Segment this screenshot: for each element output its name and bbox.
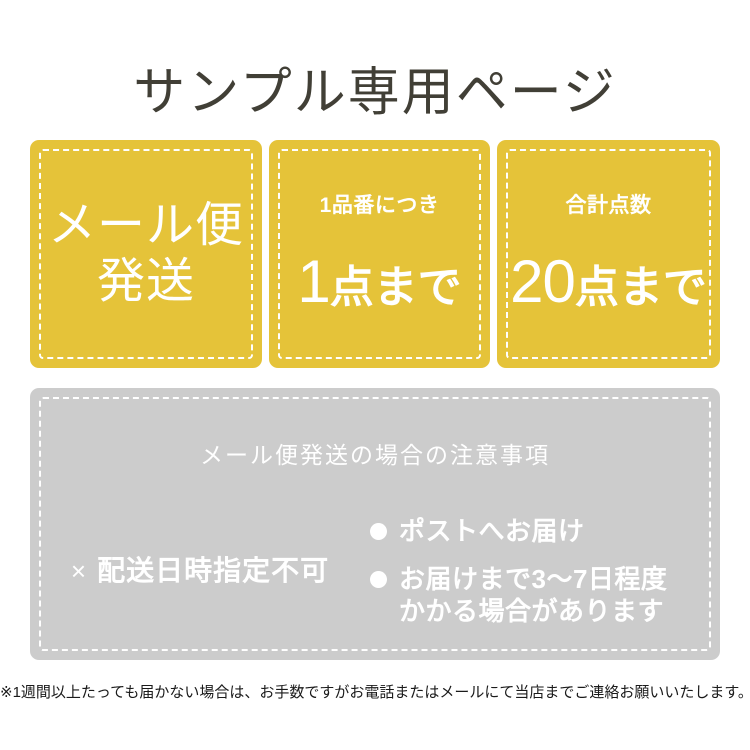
per-item-limit-amount: 1点まで (269, 256, 490, 314)
per-item-limit-number: 1 (297, 248, 329, 315)
bullet-dot-icon (370, 571, 387, 588)
shipping-method-line2: 発送 (30, 254, 262, 310)
footer-disclaimer: ※1週間以上たっても届かない場合は、お手数ですがお電話またはメールにて当店までご… (0, 683, 750, 703)
per-item-limit-unit: 点まで (330, 263, 462, 312)
cross-mark-icon: × (71, 556, 87, 586)
notice-no-date-time-label: 配送日時指定不可 (97, 555, 329, 586)
per-item-limit-caption: 1品番につき (269, 194, 490, 218)
bullet-text: ポストへお届け (399, 515, 720, 547)
sample-shipping-page: サンプル専用ページ メール便 発送 1品番につき 1点まで 合計点数 (0, 0, 750, 750)
feature-box-per-item-limit-content: 1品番につき 1点まで (269, 194, 490, 314)
bullet-line-1: お届けまで3〜7日程度 (399, 563, 720, 595)
bullet-dot-icon (370, 523, 387, 540)
bullet-line-1: ポストへお届け (399, 515, 720, 547)
feature-box-row: メール便 発送 1品番につき 1点まで 合計点数 20点まで (30, 140, 720, 368)
total-limit-caption: 合計点数 (497, 194, 720, 218)
list-item: ポストへお届け (370, 515, 720, 547)
bullet-text: お届けまで3〜7日程度 かかる場合があります (399, 563, 720, 627)
total-limit-unit: 点まで (575, 263, 707, 312)
bullet-line-2: かかる場合があります (399, 595, 720, 627)
notice-panel: メール便発送の場合の注意事項 ×配送日時指定不可 ポストへお届け お届けまで3〜… (30, 388, 720, 660)
notice-bullet-list: ポストへお届け お届けまで3〜7日程度 かかる場合があります (370, 515, 720, 627)
notice-heading: メール便発送の場合の注意事項 (30, 441, 720, 469)
feature-box-per-item-limit: 1品番につき 1点まで (269, 140, 490, 368)
notice-body: ×配送日時指定不可 ポストへお届け お届けまで3〜7日程度 かかる場合があります (30, 498, 720, 643)
feature-box-shipping-method: メール便 発送 (30, 140, 262, 368)
notice-no-date-time: ×配送日時指定不可 (30, 554, 370, 588)
shipping-method-line1: メール便 (30, 198, 262, 254)
feature-box-total-limit: 合計点数 20点まで (497, 140, 720, 368)
total-limit-amount: 20点まで (497, 256, 720, 314)
list-item: お届けまで3〜7日程度 かかる場合があります (370, 563, 720, 627)
total-limit-number: 20 (510, 248, 575, 315)
feature-box-total-limit-content: 合計点数 20点まで (497, 194, 720, 314)
page-title: サンプル専用ページ (0, 63, 750, 123)
feature-box-shipping-method-content: メール便 発送 (30, 198, 262, 310)
